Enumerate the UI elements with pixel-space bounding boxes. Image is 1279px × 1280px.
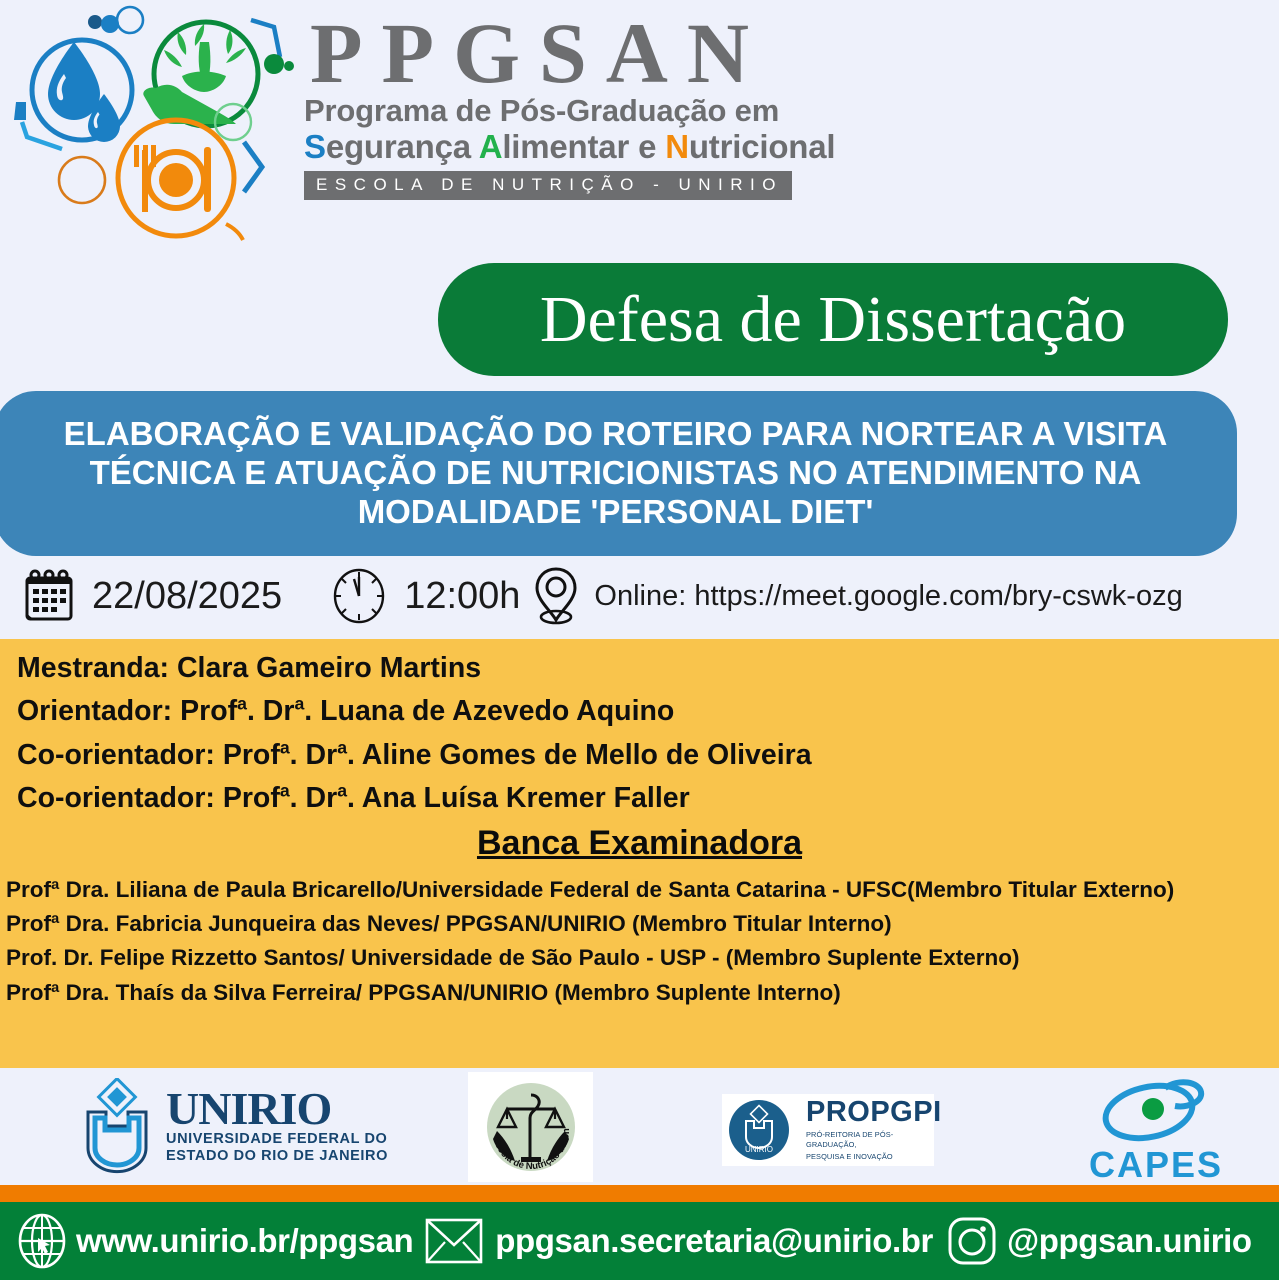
person-name: Aline Gomes de Mello de Oliveira — [362, 739, 812, 771]
propgpi-sub-line1: PRÓ-REITORIA DE PÓS-GRADUAÇÃO, — [806, 1130, 942, 1149]
unirio-name: UNIRIO — [166, 1087, 388, 1131]
prof-abbrev: Prof — [223, 782, 280, 814]
dr-sup: a — [294, 694, 304, 714]
letter-s: S — [304, 128, 326, 165]
person-name: Luana de Azevedo Aquino — [320, 695, 674, 727]
word-seguranca: egurança — [326, 128, 479, 165]
ppgsan-subtitle-line2: Segurança Alimentar e Nutricional — [304, 129, 864, 165]
dr-abbrev: Dr — [306, 782, 338, 814]
location-pin-icon — [530, 566, 582, 626]
dr-abbrev: Dr — [263, 695, 295, 727]
propgpi-logo: UNIRIO PROPGPI PRÓ-REITORIA DE PÓS-GRADU… — [722, 1094, 934, 1166]
role-label: Orientador: — [17, 695, 172, 727]
contact-footer: www.unirio.br/ppgsan ppgsan.secretaria@u… — [0, 1202, 1279, 1280]
list-item-mestranda: Mestranda: Clara Gameiro Martins — [0, 647, 1279, 690]
ppgsan-emblem-icon — [4, 2, 304, 242]
list-item-orientador: Orientador: Profa. Dra. Luana de Azevedo… — [0, 690, 1279, 733]
unirio-logo: UNIRIO UNIVERSIDADE FEDERAL DO ESTADO DO… — [78, 1078, 388, 1174]
list-item: Prof. Dr. Felipe Rizzetto Santos/ Univer… — [6, 941, 1271, 975]
prof-abbrev: Prof — [180, 695, 237, 727]
instagram-text[interactable]: @ppgsan.unirio — [1007, 1222, 1252, 1260]
escola-nutricao-seal: Escola de Nutrição da Unirio — [468, 1072, 593, 1182]
school-band: ESCOLA DE NUTRIÇÃO - UNIRIO — [304, 171, 792, 200]
unirio-sub-line1: UNIVERSIDADE FEDERAL DO — [166, 1131, 388, 1148]
event-type-banner: Defesa de Dissertação — [438, 263, 1228, 376]
unirio-mark-icon — [78, 1078, 156, 1174]
clock-icon — [330, 567, 388, 625]
propgpi-badge-icon: UNIRIO — [728, 1099, 790, 1161]
dr-sup: a — [337, 780, 347, 800]
orange-divider — [0, 1185, 1279, 1202]
envelope-icon — [423, 1215, 485, 1267]
event-date: 22/08/2025 — [92, 575, 282, 618]
letter-n: N — [665, 128, 689, 165]
capes-logo: CAPES — [1081, 1072, 1231, 1182]
people-list: Mestranda: Clara Gameiro Martins Orienta… — [0, 639, 1279, 820]
committee-heading: Banca Examinadora — [0, 823, 1279, 864]
unirio-wordmark: UNIRIO UNIVERSIDADE FEDERAL DO ESTADO DO… — [166, 1087, 388, 1165]
dr-abbrev: Dr — [306, 739, 338, 771]
prof-sup: a — [280, 780, 290, 800]
header: PPGSAN Programa de Pós-Graduação em Segu… — [0, 0, 1279, 250]
capes-name: CAPES — [1081, 1147, 1231, 1183]
time-item: 12:00h — [330, 567, 520, 625]
website-text[interactable]: www.unirio.br/ppgsan — [76, 1222, 413, 1260]
event-type-label: Defesa de Dissertação — [540, 287, 1126, 353]
thesis-title-banner: ELABORAÇÃO E VALIDAÇÃO DO ROTEIRO PARA N… — [0, 391, 1237, 556]
ppgsan-acronym: PPGSAN — [310, 8, 864, 98]
prof-sup: a — [280, 737, 290, 757]
list-item: Profª Dra. Thaís da Silva Ferreira/ PPGS… — [6, 976, 1271, 1010]
list-item-coorientador-1: Co-orientador: Profa. Dra. Aline Gomes d… — [0, 734, 1279, 777]
list-item: Profª Dra. Fabricia Junqueira das Neves/… — [6, 907, 1271, 941]
dr-sup: a — [337, 737, 347, 757]
globe-icon — [14, 1212, 70, 1270]
prof-abbrev: Prof — [223, 739, 280, 771]
unirio-sub-line2: ESTADO DO RIO DE JANEIRO — [166, 1148, 388, 1165]
role-label: Co-orientador: — [17, 782, 215, 814]
participants-section: Mestranda: Clara Gameiro Martins Orienta… — [0, 639, 1279, 1068]
ppgsan-subtitle-line1: Programa de Pós-Graduação em — [304, 94, 864, 129]
date-item: 22/08/2025 — [20, 567, 282, 625]
email-text[interactable]: ppgsan.secretaria@unirio.br — [495, 1222, 933, 1260]
list-item-coorientador-2: Co-orientador: Profa. Dra. Ana Luísa Kre… — [0, 777, 1279, 820]
website-item[interactable]: www.unirio.br/ppgsan — [14, 1212, 413, 1270]
calendar-icon — [20, 567, 78, 625]
ppgsan-wordmark: PPGSAN Programa de Pós-Graduação em Segu… — [304, 8, 864, 200]
thesis-title: ELABORAÇÃO E VALIDAÇÃO DO ROTEIRO PARA N… — [51, 415, 1181, 532]
instagram-item[interactable]: @ppgsan.unirio — [945, 1214, 1252, 1268]
sponsor-logos: UNIRIO UNIVERSIDADE FEDERAL DO ESTADO DO… — [0, 1068, 1279, 1185]
letter-a: A — [479, 128, 503, 165]
event-time: 12:00h — [404, 575, 520, 618]
word-alimentar: limentar e — [502, 128, 665, 165]
event-location: Online: https://meet.google.com/bry-cswk… — [594, 580, 1182, 613]
person-name: Ana Luísa Kremer Faller — [362, 782, 690, 814]
committee-list: Profª Dra. Liliana de Paula Bricarello/U… — [0, 873, 1279, 1010]
svg-text:UNIRIO: UNIRIO — [745, 1145, 773, 1154]
word-nutricional: utricional — [689, 128, 836, 165]
event-details-row: 22/08/2025 12:00h — [0, 558, 1279, 634]
propgpi-sub-line2: PESQUISA E INOVAÇÃO — [806, 1152, 942, 1162]
propgpi-name: PROPGPI — [806, 1098, 942, 1127]
capes-mark-icon — [1081, 1072, 1231, 1144]
propgpi-wordmark: PROPGPI PRÓ-REITORIA DE PÓS-GRADUAÇÃO, P… — [806, 1098, 942, 1162]
list-item: Profª Dra. Liliana de Paula Bricarello/U… — [6, 873, 1271, 907]
prof-sup: a — [237, 694, 247, 714]
role-label: Co-orientador: — [17, 739, 215, 771]
ppgsan-logo-graphic — [4, 2, 304, 242]
location-item: Online: https://meet.google.com/bry-cswk… — [530, 566, 1182, 626]
role-label: Mestranda: — [17, 652, 169, 684]
instagram-icon — [945, 1214, 999, 1268]
person-name: Clara Gameiro Martins — [177, 652, 481, 684]
poster-root: PPGSAN Programa de Pós-Graduação em Segu… — [0, 0, 1279, 1280]
email-item[interactable]: ppgsan.secretaria@unirio.br — [423, 1215, 933, 1267]
escola-nutricao-seal-icon: Escola de Nutrição da Unirio — [479, 1075, 583, 1179]
